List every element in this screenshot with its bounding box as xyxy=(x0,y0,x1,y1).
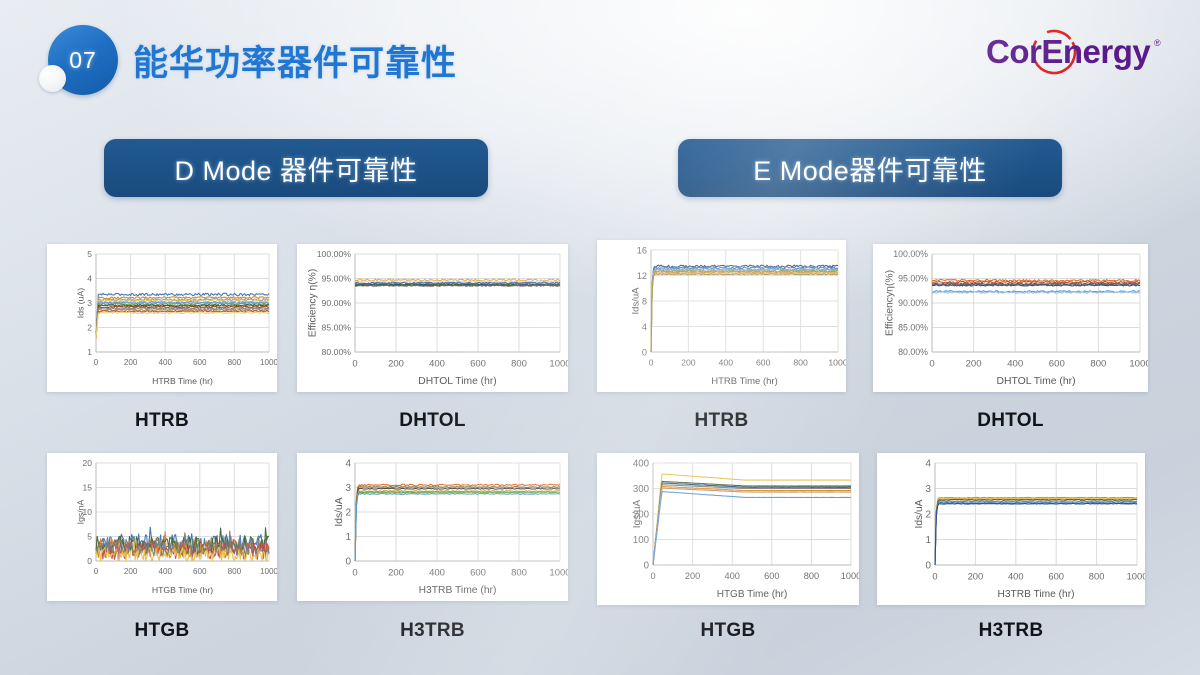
svg-text:1000: 1000 xyxy=(1129,359,1148,370)
svg-text:400: 400 xyxy=(719,358,734,368)
svg-text:80.00%: 80.00% xyxy=(322,347,352,357)
page-title: 能华功率器件可靠性 xyxy=(133,35,457,86)
svg-text:1000: 1000 xyxy=(260,567,277,576)
section-banner-label: D Mode 器件可靠性 xyxy=(174,149,417,188)
svg-text:5: 5 xyxy=(87,249,92,259)
chart-card-dhtol-3: 80.00%85.00%90.00%95.00%100.00%020040060… xyxy=(873,244,1148,392)
svg-text:100: 100 xyxy=(633,535,650,546)
svg-text:1: 1 xyxy=(926,535,932,546)
svg-text:20: 20 xyxy=(83,458,93,468)
svg-text:4: 4 xyxy=(926,459,932,470)
svg-text:4: 4 xyxy=(345,459,351,470)
y-axis-title: Efficiency η(%) xyxy=(308,269,319,337)
svg-text:200: 200 xyxy=(388,359,404,370)
svg-text:600: 600 xyxy=(756,358,771,368)
chart-card-h3trb-7: 0123402004006008001000H3TRB Time (hr)Ids… xyxy=(877,453,1145,605)
svg-text:5: 5 xyxy=(87,532,92,542)
section-banner-label: E Mode器件可靠性 xyxy=(753,149,987,188)
y-axis-title: Ids/uA xyxy=(630,287,641,315)
chart-caption: HTRB xyxy=(597,410,846,432)
svg-text:95.00%: 95.00% xyxy=(898,274,928,284)
chart-caption: HTGB xyxy=(47,620,277,642)
x-axis-title: DHTOL Time (hr) xyxy=(996,376,1075,387)
svg-text:90.00%: 90.00% xyxy=(898,298,928,308)
svg-text:200: 200 xyxy=(685,571,700,581)
chart-card-htrb-2: 048121602004006008001000HTRB Time (hr)Id… xyxy=(597,240,846,392)
svg-text:400: 400 xyxy=(1007,359,1023,370)
svg-text:85.00%: 85.00% xyxy=(898,323,928,333)
svg-text:600: 600 xyxy=(470,568,486,579)
svg-text:15: 15 xyxy=(83,483,93,493)
chart-card-h3trb-5: 0123402004006008001000H3TRB Time (hr)Ids… xyxy=(297,453,568,601)
svg-text:800: 800 xyxy=(793,358,808,368)
svg-text:1000: 1000 xyxy=(828,358,846,368)
svg-text:2: 2 xyxy=(87,323,92,333)
y-axis-title: Efficiencyη(%) xyxy=(884,270,895,336)
svg-text:0: 0 xyxy=(87,556,92,566)
svg-text:2: 2 xyxy=(926,510,932,521)
chart-card-htgb-4: 0510152002004006008001000HTGB Time (hr)I… xyxy=(47,453,277,601)
svg-text:0: 0 xyxy=(352,359,357,370)
svg-text:0: 0 xyxy=(94,358,99,367)
chart-caption: DHTOL xyxy=(873,410,1148,432)
svg-text:200: 200 xyxy=(968,570,984,581)
svg-text:400: 400 xyxy=(1008,570,1024,581)
svg-text:95.00%: 95.00% xyxy=(322,274,352,284)
svg-text:1000: 1000 xyxy=(549,568,568,579)
svg-text:200: 200 xyxy=(388,568,404,579)
svg-text:400: 400 xyxy=(429,568,445,579)
svg-text:0: 0 xyxy=(94,567,99,576)
x-axis-title: H3TRB Time (hr) xyxy=(998,589,1075,600)
svg-text:0: 0 xyxy=(345,557,351,568)
svg-text:800: 800 xyxy=(1090,359,1106,370)
svg-text:400: 400 xyxy=(429,359,445,370)
y-axis-title: Ids/uA xyxy=(334,497,345,526)
svg-text:100.00%: 100.00% xyxy=(893,249,928,259)
y-axis-title: Igs/nA xyxy=(76,499,86,524)
chart-caption: HTRB xyxy=(47,410,277,432)
svg-text:0: 0 xyxy=(650,571,655,581)
svg-text:100.00%: 100.00% xyxy=(317,249,352,259)
chart-card-htgb-6: 010020030040002004006008001000HTGB Time … xyxy=(597,453,859,605)
y-axis-title: Igs/uA xyxy=(632,500,643,529)
svg-text:0: 0 xyxy=(352,568,357,579)
svg-text:1000: 1000 xyxy=(1127,570,1145,581)
svg-text:1: 1 xyxy=(345,532,351,543)
svg-text:1000: 1000 xyxy=(260,358,277,367)
y-axis-title: Ids (uA) xyxy=(76,288,86,319)
svg-text:800: 800 xyxy=(511,359,527,370)
svg-text:4: 4 xyxy=(87,274,92,284)
corenergy-logo: CorEnergy ® xyxy=(982,28,1168,80)
svg-text:200: 200 xyxy=(966,359,982,370)
svg-text:600: 600 xyxy=(764,571,779,581)
svg-text:3: 3 xyxy=(345,483,351,494)
svg-text:2: 2 xyxy=(345,508,351,519)
svg-text:0: 0 xyxy=(642,347,647,357)
svg-text:800: 800 xyxy=(228,358,242,367)
x-axis-title: HTRB Time (hr) xyxy=(152,376,213,386)
svg-text:200: 200 xyxy=(124,358,138,367)
section-banner-e-mode: E Mode器件可靠性 xyxy=(678,139,1062,197)
svg-text:300: 300 xyxy=(633,484,650,495)
x-axis-title: HTRB Time (hr) xyxy=(711,376,778,387)
chart-caption: H3TRB xyxy=(877,620,1145,642)
svg-text:16: 16 xyxy=(637,245,647,255)
svg-text:800: 800 xyxy=(1089,570,1105,581)
svg-text:0: 0 xyxy=(929,359,934,370)
svg-text:0: 0 xyxy=(932,570,937,581)
svg-text:12: 12 xyxy=(637,271,647,281)
svg-text:600: 600 xyxy=(470,359,486,370)
svg-text:600: 600 xyxy=(193,358,207,367)
svg-text:80.00%: 80.00% xyxy=(898,347,928,357)
badge-accent-dot xyxy=(39,65,66,92)
chart-card-htrb-0: 1234502004006008001000HTRB Time (hr)Ids … xyxy=(47,244,277,392)
svg-text:0: 0 xyxy=(644,561,650,572)
svg-text:800: 800 xyxy=(511,568,527,579)
section-banner-d-mode: D Mode 器件可靠性 xyxy=(104,139,488,197)
svg-text:200: 200 xyxy=(681,358,696,368)
svg-text:®: ® xyxy=(1154,38,1161,48)
svg-text:CorEnergy: CorEnergy xyxy=(986,33,1151,70)
svg-text:1000: 1000 xyxy=(841,571,859,581)
svg-text:85.00%: 85.00% xyxy=(322,323,352,333)
chart-caption: DHTOL xyxy=(297,410,568,432)
svg-text:4: 4 xyxy=(642,322,647,332)
slide-root: 07 能华功率器件可靠性 CorEnergy ® D Mode 器件可靠性 E … xyxy=(0,0,1200,675)
svg-text:800: 800 xyxy=(804,571,819,581)
chart-card-dhtol-1: 80.00%85.00%90.00%95.00%100.00%020040060… xyxy=(297,244,568,392)
x-axis-title: HTGB Time (hr) xyxy=(152,585,213,595)
chart-caption: H3TRB xyxy=(297,620,568,642)
svg-text:600: 600 xyxy=(1048,570,1064,581)
svg-text:400: 400 xyxy=(158,358,172,367)
svg-text:1000: 1000 xyxy=(549,359,568,370)
svg-text:600: 600 xyxy=(193,567,207,576)
svg-text:1: 1 xyxy=(87,347,92,357)
x-axis-title: DHTOL Time (hr) xyxy=(418,376,496,387)
svg-text:3: 3 xyxy=(87,298,92,308)
svg-text:0: 0 xyxy=(649,358,654,368)
svg-text:8: 8 xyxy=(642,296,647,306)
svg-text:0: 0 xyxy=(926,561,932,572)
svg-text:400: 400 xyxy=(633,459,650,470)
chart-caption: HTGB xyxy=(597,620,859,642)
svg-text:400: 400 xyxy=(158,567,172,576)
x-axis-title: HTGB Time (hr) xyxy=(717,589,788,600)
section-number-badge: 07 xyxy=(36,22,126,102)
svg-text:200: 200 xyxy=(124,567,138,576)
y-axis-title: Ids/uA xyxy=(914,499,925,528)
svg-text:600: 600 xyxy=(1049,359,1065,370)
svg-text:3: 3 xyxy=(926,484,932,495)
svg-text:400: 400 xyxy=(725,571,740,581)
x-axis-title: H3TRB Time (hr) xyxy=(419,585,497,596)
svg-text:800: 800 xyxy=(228,567,242,576)
svg-text:90.00%: 90.00% xyxy=(322,298,352,308)
badge-number: 07 xyxy=(69,47,97,74)
